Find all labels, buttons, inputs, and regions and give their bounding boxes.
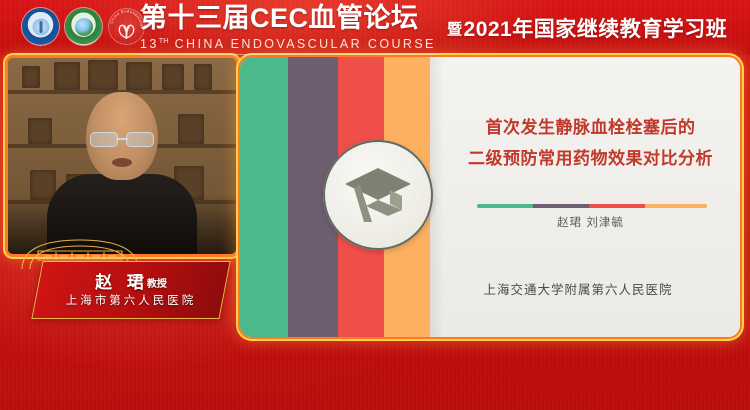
slide-title-line-2: 二级预防常用药物效果对比分析 [458, 143, 723, 174]
presentation-slide[interactable]: 首次发生静脉血栓栓塞后的 二级预防常用药物效果对比分析 赵珺 刘津毓 上海交通大… [240, 57, 740, 337]
event-header-banner: China Endovascular Course 第十三届CEC血管论坛 13… [0, 0, 750, 55]
shelf-object [126, 62, 152, 90]
header-title-block: 第十三届CEC血管论坛 13TH CHINA ENDOVASCULAR COUR… [140, 4, 435, 55]
slide-authors: 赵珺 刘津毓 [458, 214, 723, 230]
vascular-society-emblem-icon [65, 8, 102, 45]
speaker-name-line: 赵 珺教授 [38, 268, 224, 293]
event-subtitle-text: 2021年国家继续教育学习班 [464, 18, 728, 41]
speaker-academic-title: 教授 [147, 279, 167, 290]
event-title-en: 13TH CHINA ENDOVASCULAR COURSE [140, 33, 435, 55]
shelf-object [194, 64, 212, 90]
rule-red [589, 204, 645, 208]
slide-organization: 上海交通大学附属第六人民医院 [428, 279, 728, 298]
event-title-cn: 第十三届CEC血管论坛 [140, 4, 435, 33]
speaker-video-feed [8, 58, 236, 254]
event-title-en-sup: TH [159, 36, 169, 45]
shelf-object [22, 66, 40, 88]
shelf-object [162, 64, 184, 90]
event-title-en-rest: CHINA ENDOVASCULAR COURSE [169, 37, 436, 51]
graduation-cap-badge [323, 140, 433, 250]
speaker-head [86, 92, 158, 180]
speaker-mouth [112, 158, 132, 167]
speaker-name: 赵 珺 [95, 273, 149, 292]
rule-orange [645, 204, 707, 208]
lens-left [90, 132, 118, 147]
presentation-stage: China Endovascular Course 第十三届CEC血管论坛 13… [0, 0, 750, 410]
slide-title: 首次发生静脉血栓栓塞后的 二级预防常用药物效果对比分析 [458, 112, 723, 174]
shelf-object [88, 60, 118, 90]
event-subtitle-prefix: 暨 [447, 21, 463, 38]
rule-green [477, 204, 533, 208]
medical-association-emblem-icon [22, 8, 59, 45]
event-title-en-prefix: 13 [140, 37, 159, 51]
stripe-green [240, 57, 288, 337]
eyeglasses-icon [90, 132, 154, 146]
slide-title-line-1: 首次发生静脉血栓栓塞后的 [458, 112, 723, 143]
speaker-video-panel[interactable] [8, 58, 236, 254]
shelf-object [54, 62, 80, 90]
lens-right [126, 132, 154, 147]
speaker-lower-third-banner: 赵 珺教授 上海市第六人民医院 [33, 262, 230, 318]
event-subtitle-cn: 暨2021年国家继续教育学习班 [447, 13, 727, 43]
speaker-organization: 上海市第六人民医院 [38, 292, 224, 308]
graduation-cap-icon [344, 166, 412, 224]
organizer-logo-group: China Endovascular Course [22, 8, 145, 45]
slide-color-divider [477, 204, 707, 208]
rule-purple [533, 204, 589, 208]
